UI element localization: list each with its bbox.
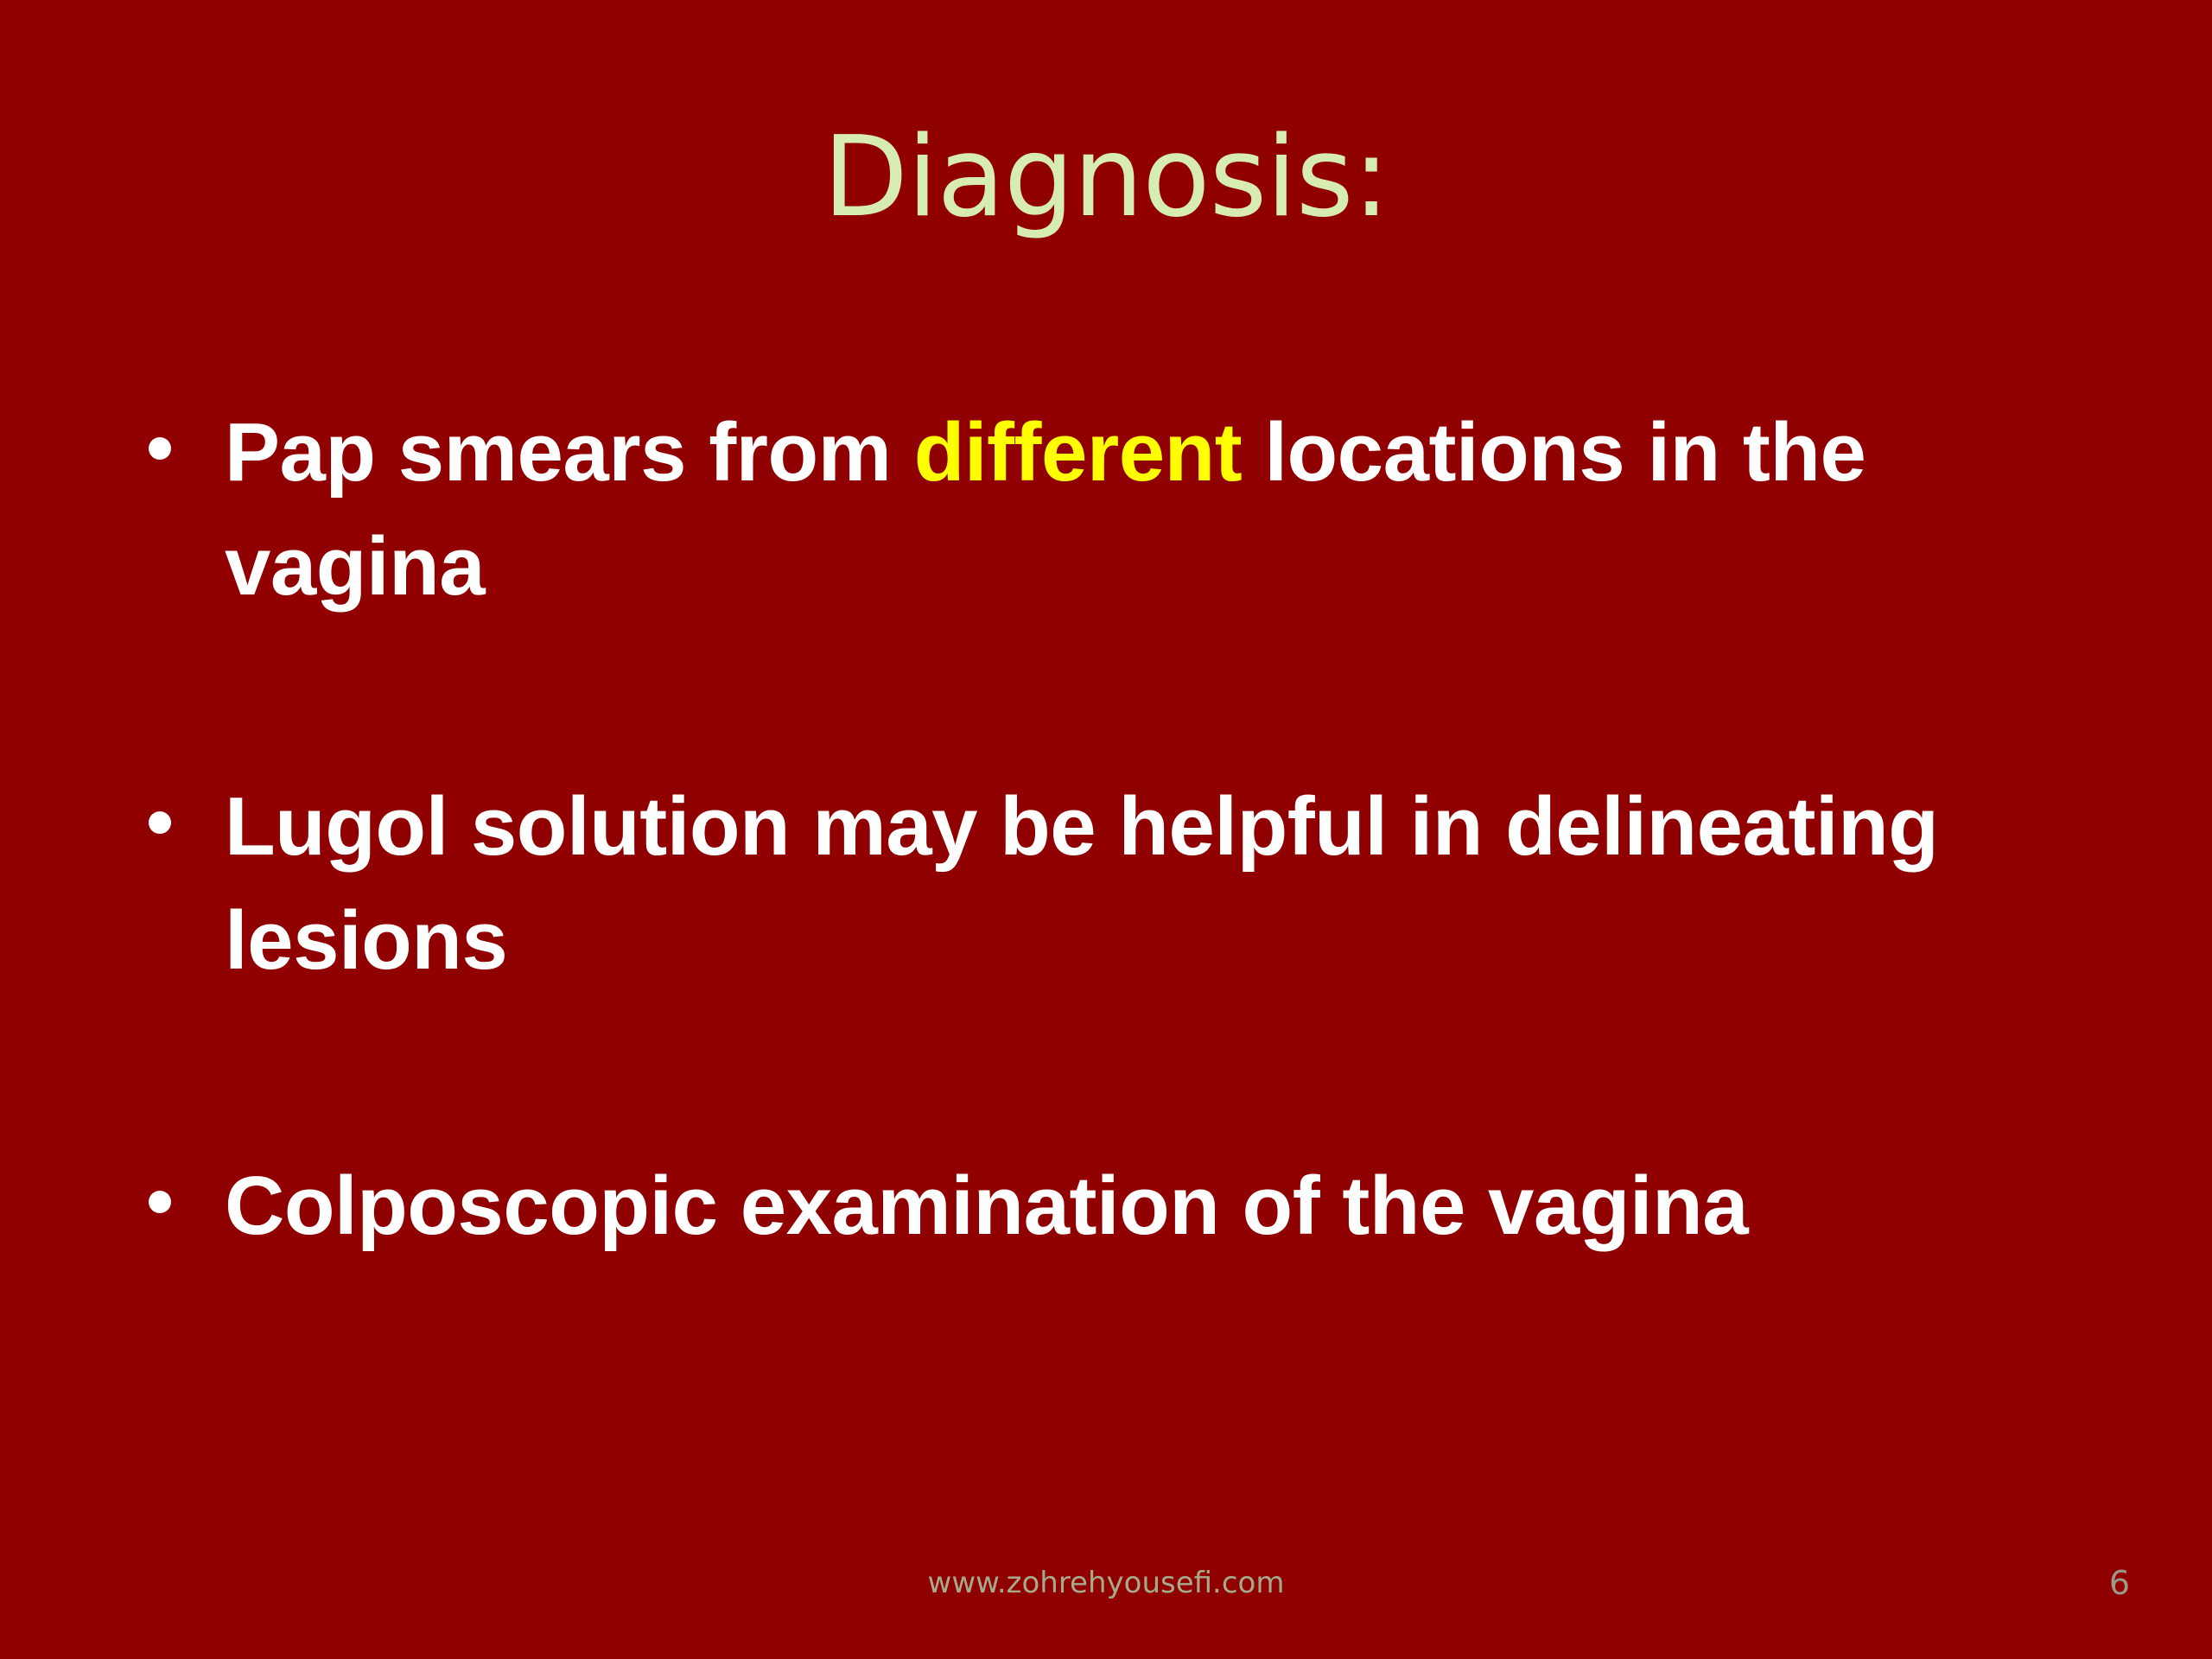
bullet-dot-icon bbox=[149, 437, 171, 460]
bullet-spacer bbox=[130, 625, 2100, 770]
slide-canvas: Diagnosis: Pap smears from different loc… bbox=[0, 0, 2212, 1659]
bullet-text-colposcopy: Colposcopic examination of the vagina bbox=[225, 1149, 2100, 1263]
footer-website-url: www.zohrehyousefi.com bbox=[0, 1566, 2212, 1600]
page-title: Diagnosis: bbox=[0, 123, 2212, 233]
bullet-dot-icon bbox=[149, 1191, 171, 1213]
bullet-spacer bbox=[130, 999, 2100, 1149]
slide-page-number: 6 bbox=[2109, 1564, 2130, 1602]
list-item: Lugol solution may be helpful in delinea… bbox=[130, 770, 2100, 999]
bullet-text-lugol: Lugol solution may be helpful in delinea… bbox=[225, 770, 2100, 999]
list-item: Colposcopic examination of the vagina bbox=[130, 1149, 2100, 1263]
bullet-list: Pap smears from different locations in t… bbox=[130, 396, 2100, 1263]
bullet-segment-highlight: different bbox=[914, 406, 1243, 499]
bullet-segment-pre: Pap smears from bbox=[225, 406, 914, 499]
bullet-dot-icon bbox=[149, 811, 171, 834]
list-item: Pap smears from different locations in t… bbox=[130, 396, 2100, 625]
bullet-text-pap-smears: Pap smears from different locations in t… bbox=[225, 396, 2100, 625]
